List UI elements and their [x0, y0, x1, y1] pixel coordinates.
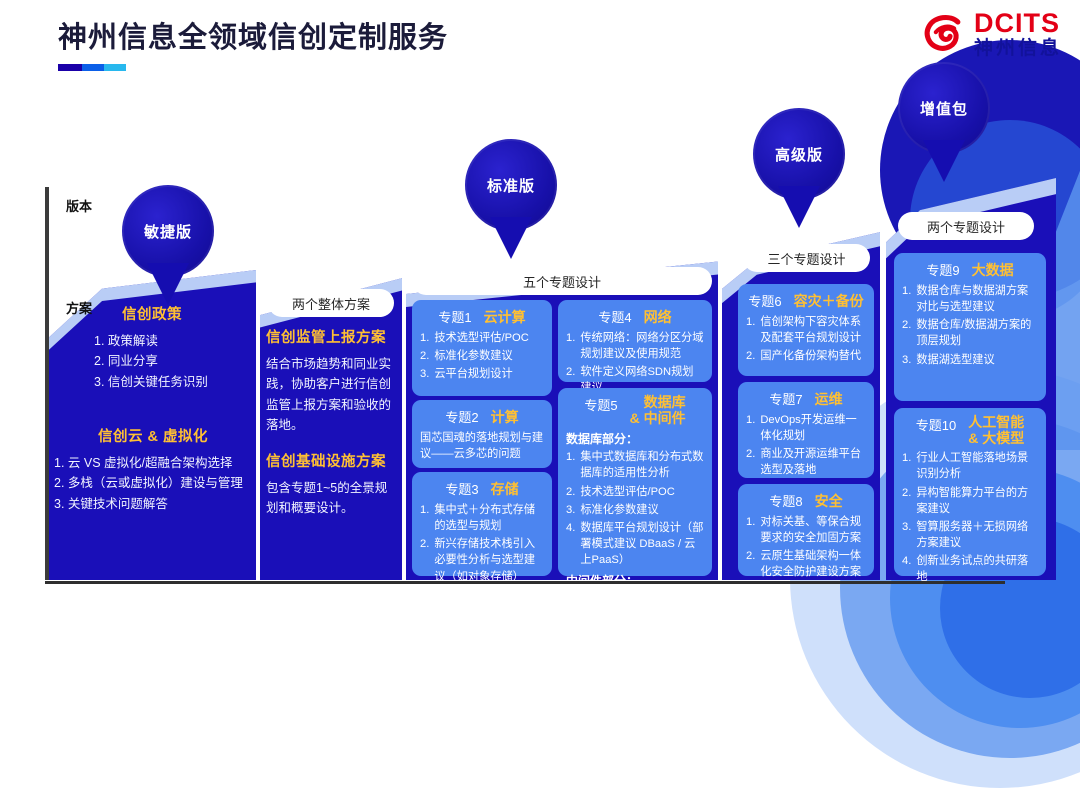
card-header: 专题5 数据库 & 中间件 — [566, 395, 704, 426]
axis-vertical-line — [45, 187, 49, 580]
card-list-number: 1. — [420, 330, 429, 346]
card-list-number: 3. — [420, 366, 429, 382]
card-list-number: 1. — [746, 514, 755, 546]
card-list-text: 技术选型评估/POC — [580, 484, 674, 500]
card-topic-7[interactable]: 专题7 运维 1.DevOps开发运维一体化规划 2.商业及开源运维平台选型及落… — [738, 382, 874, 478]
card-list-number: 1. — [420, 502, 429, 534]
pin-valueadd[interactable]: 增值包 — [898, 62, 990, 182]
pin-standard[interactable]: 标准版 — [465, 139, 557, 259]
card-list-number: 4. — [566, 520, 575, 568]
card-number: 专题6 — [748, 291, 781, 310]
pill-standard-topics[interactable]: 五个专题设计 — [412, 267, 712, 295]
logo-text-en: DCITS — [974, 10, 1062, 37]
card-list-item: 3.数据湖选型建议 — [902, 352, 1038, 368]
card-list-number: 3. — [902, 352, 911, 368]
axis-baseline — [45, 581, 1005, 584]
card-header: 专题7 运维 — [746, 389, 866, 408]
card-free-text: 中间件选型策略：云原生优先＋传统信创中间件＋开源管理 — [566, 592, 704, 640]
card-list-number: 2. — [902, 317, 911, 349]
card-tag: 计算 — [491, 410, 519, 426]
list-item: 2. 多栈（云或虚拟化）建设与管理 — [54, 473, 254, 493]
axis-label-solution: 方案 — [66, 298, 92, 317]
card-free-text: 国芯国魂的落地规划与建议——云多芯的问题 — [420, 430, 544, 462]
accent-segment-3 — [104, 64, 126, 71]
pin-agile-tail — [147, 263, 189, 305]
card-list-item: 1.DevOps开发运维一体化规划 — [746, 412, 866, 444]
card-number: 专题2 — [445, 407, 478, 426]
card-list-item: 2.标准化参数建议 — [420, 348, 544, 364]
card-list-item: 1.数据仓库与数据湖方案对比与选型建议 — [902, 283, 1038, 315]
block-cloud-virtualization: 信创云 & 虚拟化 1. 云 VS 虚拟化/超融合架构选择 2. 多栈（云或虚拟… — [52, 425, 254, 514]
pill-overall-solutions[interactable]: 两个整体方案 — [268, 289, 394, 317]
card-tag: 安全 — [815, 494, 843, 510]
card-list-number: 2. — [902, 485, 911, 517]
card-header: 专题2 计算 — [420, 407, 544, 426]
card-list-text: 新兴存储技术栈引入必要性分析与选型建议（如对象存储） — [434, 536, 544, 584]
list-item: 2. 同业分享 — [94, 351, 252, 371]
card-list-text: 标准化参数建议 — [580, 502, 658, 518]
card-list-number: 3. — [902, 519, 911, 551]
card-list-text: 数据仓库/数据湖方案的顶层规划 — [916, 317, 1038, 349]
card-subheading: 数据库部分： — [566, 430, 704, 447]
block-infrastructure-plan: 信创基础设施方案 包含专题1~5的全景规划和概要设计。 — [266, 450, 398, 519]
card-list-number: 1. — [746, 412, 755, 444]
card-header: 专题1 云计算 — [420, 307, 544, 326]
card-list-item: 2.商业及开源运维平台选型及落地 — [746, 446, 866, 478]
pin-advanced-label: 高级版 — [775, 144, 823, 165]
card-list-text: 云平台规划设计 — [434, 366, 512, 382]
card-list-text: DevOps开发运维一体化规划 — [760, 412, 866, 444]
list-item: 1. 政策解读 — [94, 331, 252, 351]
card-topic-2[interactable]: 专题2 计算 国芯国魂的落地规划与建议——云多芯的问题 — [412, 400, 552, 468]
card-topic-6[interactable]: 专题6 容灾＋备份 1.信创架构下容灾体系及配套平台规划设计 2.国产化备份架构… — [738, 284, 874, 376]
card-list-text: 国产化备份架构替代 — [760, 348, 861, 364]
card-list-item: 1.集中式＋分布式存储的选型与规划 — [420, 502, 544, 534]
pill-label: 两个专题设计 — [927, 217, 1005, 236]
card-tag: 人工智能 & 大模型 — [968, 415, 1024, 446]
card-number: 专题1 — [438, 307, 471, 326]
accent-segment-1 — [58, 64, 82, 71]
pin-standard-tail — [490, 217, 532, 259]
card-number: 专题5 — [584, 395, 617, 414]
card-list-item: 3.智算服务器＋无损网络方案建议 — [902, 519, 1038, 551]
card-list-number: 2. — [420, 348, 429, 364]
card-tag: 容灾＋备份 — [794, 294, 864, 310]
card-topic-10[interactable]: 专题10 人工智能 & 大模型 1.行业人工智能落地场景识别分析 2.异构智能算… — [894, 408, 1046, 576]
card-header: 专题6 容灾＋备份 — [746, 291, 866, 310]
accent-bar — [58, 64, 126, 71]
card-topic-1[interactable]: 专题1 云计算 1.技术选型评估/POC 2.标准化参数建议 3.云平台规划设计 — [412, 300, 552, 396]
page-title: 神州信息全领域信创定制服务 — [58, 14, 448, 56]
card-list-item: 2.云原生基础架构一体化安全防护建设方案 — [746, 548, 866, 580]
block-title: 信创云 & 虚拟化 — [52, 425, 254, 446]
card-tag: 运维 — [815, 392, 843, 408]
pin-standard-label: 标准版 — [487, 175, 535, 196]
card-list-number: 2. — [746, 348, 755, 364]
card-header: 专题9 大数据 — [902, 260, 1038, 279]
card-list-item: 4.数据库平台规划设计（部署模式建议 DBaaS / 云上PaaS） — [566, 520, 704, 568]
accent-segment-2 — [82, 64, 104, 71]
pin-advanced[interactable]: 高级版 — [753, 108, 845, 228]
card-tag: 存储 — [491, 482, 519, 498]
card-header: 专题4 网络 — [566, 307, 704, 326]
card-list-item: 1.技术选型评估/POC — [420, 330, 544, 346]
card-topic-5[interactable]: 专题5 数据库 & 中间件 数据库部分： 1.集中式数据库和分布式数据库的适用性… — [558, 388, 712, 576]
card-list-item: 2.异构智能算力平台的方案建议 — [902, 485, 1038, 517]
pill-label: 五个专题设计 — [523, 272, 601, 291]
list-item: 1. 云 VS 虚拟化/超融合架构选择 — [54, 453, 254, 473]
pill-label: 三个专题设计 — [767, 249, 845, 268]
card-number: 专题7 — [769, 389, 802, 408]
card-header: 专题8 安全 — [746, 491, 866, 510]
card-list-item: 1.对标关基、等保合规要求的安全加固方案 — [746, 514, 866, 546]
logo-text-cn: 神州信息 — [974, 39, 1062, 58]
card-list-number: 1. — [902, 283, 911, 315]
pill-valueadd-topics[interactable]: 两个专题设计 — [898, 212, 1034, 240]
card-list-number: 3. — [566, 502, 575, 518]
block-title: 信创监管上报方案 — [266, 326, 398, 347]
card-list-text: 集中式数据库和分布式数据库的适用性分析 — [580, 449, 704, 481]
card-list-item: 2.国产化备份架构替代 — [746, 348, 866, 364]
card-list-text: 智算服务器＋无损网络方案建议 — [916, 519, 1038, 551]
card-list-number: 1. — [746, 314, 755, 346]
card-list-text: 数据湖选型建议 — [916, 352, 994, 368]
pin-agile-label: 敏捷版 — [144, 221, 192, 242]
card-tag: 云计算 — [484, 310, 526, 326]
card-list-text: 信创架构下容灾体系及配套平台规划设计 — [760, 314, 866, 346]
card-list-number: 1. — [566, 449, 575, 481]
block-paragraph: 结合市场趋势和同业实践，协助客户进行信创监管上报方案和验收的落地。 — [266, 354, 398, 435]
pin-valueadd-label: 增值包 — [920, 98, 968, 119]
card-list-item: 2.新兴存储技术栈引入必要性分析与选型建议（如对象存储） — [420, 536, 544, 584]
list-item: 3. 信创关键任务识别 — [94, 372, 252, 392]
card-topic-9[interactable]: 专题9 大数据 1.数据仓库与数据湖方案对比与选型建议 2.数据仓库/数据湖方案… — [894, 253, 1046, 401]
card-list-text: 数据仓库与数据湖方案对比与选型建议 — [916, 283, 1038, 315]
card-list-number: 1. — [566, 330, 575, 362]
block-title: 信创基础设施方案 — [266, 450, 398, 471]
card-number: 专题8 — [769, 491, 802, 510]
card-list-text: 数据库平台规划设计（部署模式建议 DBaaS / 云上PaaS） — [580, 520, 704, 568]
card-list-text: 对标关基、等保合规要求的安全加固方案 — [760, 514, 866, 546]
card-list-text: 集中式＋分布式存储的选型与规划 — [434, 502, 544, 534]
card-list-item: 2.技术选型评估/POC — [566, 484, 704, 500]
pin-advanced-tail — [778, 186, 820, 228]
card-list-text: 行业人工智能落地场景识别分析 — [916, 450, 1038, 482]
card-list-item: 3.标准化参数建议 — [566, 502, 704, 518]
card-header: 专题10 人工智能 & 大模型 — [902, 415, 1038, 446]
card-list-number: 2. — [746, 548, 755, 580]
brand-logo: DCITS 神州信息 — [922, 10, 1062, 58]
pin-valueadd-tail — [923, 140, 965, 182]
card-number: 专题4 — [598, 307, 631, 326]
card-list-item: 1.信创架构下容灾体系及配套平台规划设计 — [746, 314, 866, 346]
card-list-text: 传统网络：网络分区分域规划建议及使用规范 — [580, 330, 704, 362]
card-list-item: 1.行业人工智能落地场景识别分析 — [902, 450, 1038, 482]
pill-advanced-topics[interactable]: 三个专题设计 — [743, 244, 870, 272]
card-tag: 大数据 — [972, 263, 1014, 279]
dcits-swirl-icon — [922, 11, 968, 57]
card-list-text: 标准化参数建议 — [434, 348, 512, 364]
card-list-text: 异构智能算力平台的方案建议 — [916, 485, 1038, 517]
card-tag: 网络 — [644, 310, 672, 326]
card-list-item: 1.传统网络：网络分区分域规划建议及使用规范 — [566, 330, 704, 362]
card-list-item: 3.云平台规划设计 — [420, 366, 544, 382]
card-list-item: 2.数据仓库/数据湖方案的顶层规划 — [902, 317, 1038, 349]
card-list-number: 2. — [420, 536, 429, 584]
card-list-text: 商业及开源运维平台选型及落地 — [760, 446, 866, 478]
pin-agile[interactable]: 敏捷版 — [122, 185, 214, 305]
block-paragraph: 包含专题1~5的全景规划和概要设计。 — [266, 478, 398, 519]
header: 神州信息全领域信创定制服务 — [58, 14, 448, 71]
card-number: 专题9 — [926, 260, 959, 279]
card-topic-3[interactable]: 专题3 存储 1.集中式＋分布式存储的选型与规划 2.新兴存储技术栈引入必要性分… — [412, 472, 552, 576]
card-header: 专题3 存储 — [420, 479, 544, 498]
card-topic-8[interactable]: 专题8 安全 1.对标关基、等保合规要求的安全加固方案 2.云原生基础架构一体化… — [738, 484, 874, 576]
list-item: 3. 关键技术问题解答 — [54, 494, 254, 514]
axis-label-version: 版本 — [66, 196, 92, 215]
card-number: 专题3 — [445, 479, 478, 498]
block-supervision-report: 信创监管上报方案 结合市场趋势和同业实践，协助客户进行信创监管上报方案和验收的落… — [266, 326, 398, 435]
card-list-item: 1.集中式数据库和分布式数据库的适用性分析 — [566, 449, 704, 481]
card-tag: 数据库 & 中间件 — [630, 395, 686, 426]
card-list-number: 2. — [566, 484, 575, 500]
card-list-number: 2. — [746, 446, 755, 478]
card-list-text: 云原生基础架构一体化安全防护建设方案 — [760, 548, 866, 580]
card-topic-4[interactable]: 专题4 网络 1.传统网络：网络分区分域规划建议及使用规范 2.软件定义网络SD… — [558, 300, 712, 382]
pill-label: 两个整体方案 — [292, 294, 370, 313]
card-number: 专题10 — [916, 415, 956, 434]
card-list-text: 技术选型评估/POC — [434, 330, 528, 346]
card-list-number: 1. — [902, 450, 911, 482]
